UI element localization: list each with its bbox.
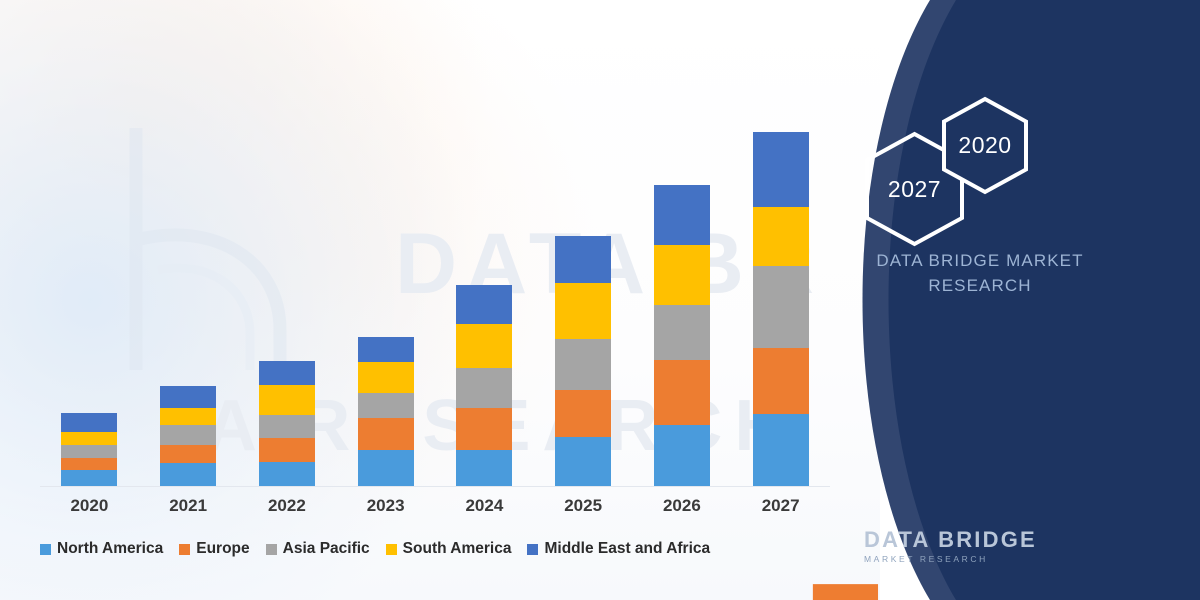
company-logo: DATA BRIDGE MARKET RESEARCH xyxy=(802,505,1132,600)
bar-segment xyxy=(160,386,216,408)
legend-label: Middle East and Africa xyxy=(544,540,710,558)
bar-2025 xyxy=(555,236,611,486)
stacked-bar-chart: 20202021202220232024202520262027 North A… xyxy=(0,0,880,600)
bar-segment xyxy=(654,360,710,425)
bar-segment xyxy=(259,361,315,385)
bar-segment xyxy=(555,283,611,339)
plot-area xyxy=(40,60,830,486)
company-logo-text: DATA BRIDGE xyxy=(864,527,1037,553)
x-tick-2020: 2020 xyxy=(41,496,137,516)
bar-segment xyxy=(61,432,117,445)
bar-segment xyxy=(61,445,117,458)
brand-title: DATA BRIDGE MARKET RESEARCH xyxy=(820,248,1140,298)
legend-item[interactable]: South America xyxy=(386,540,512,558)
legend-item[interactable]: Middle East and Africa xyxy=(527,540,710,558)
bar-segment xyxy=(654,185,710,245)
bar-segment xyxy=(61,458,117,470)
bar-segment xyxy=(160,408,216,425)
bar-segment xyxy=(555,390,611,437)
bar-segment xyxy=(456,450,512,486)
brand-title-line-1: DATA BRIDGE MARKET xyxy=(820,248,1140,273)
bar-segment xyxy=(358,418,414,450)
legend-label: South America xyxy=(403,540,512,558)
x-axis-tick-labels: 20202021202220232024202520262027 xyxy=(40,496,830,526)
bar-2023 xyxy=(358,337,414,486)
brand-title-line-2: RESEARCH xyxy=(820,273,1140,298)
legend-item[interactable]: Asia Pacific xyxy=(266,540,370,558)
legend-swatch-icon xyxy=(179,544,190,555)
bar-segment xyxy=(555,437,611,486)
brand-panel: 2027 2020 DATA BRIDGE MARKET RESEARCH DA… xyxy=(780,0,1200,600)
legend-label: North America xyxy=(57,540,163,558)
bar-segment xyxy=(358,450,414,486)
legend-item[interactable]: North America xyxy=(40,540,163,558)
x-tick-2021: 2021 xyxy=(140,496,236,516)
x-axis-line xyxy=(40,486,830,487)
legend-label: Europe xyxy=(196,540,249,558)
legend-swatch-icon xyxy=(40,544,51,555)
legend-swatch-icon xyxy=(386,544,397,555)
bar-segment xyxy=(555,236,611,283)
bar-segment xyxy=(160,425,216,445)
bar-segment xyxy=(160,463,216,486)
bar-segment xyxy=(456,408,512,450)
bar-2020 xyxy=(61,413,117,486)
legend-swatch-icon xyxy=(527,544,538,555)
legend-item[interactable]: Europe xyxy=(179,540,249,558)
company-logo-subtext: MARKET RESEARCH xyxy=(864,554,988,564)
hexagon-2020: 2020 xyxy=(940,95,1030,196)
bar-segment xyxy=(61,470,117,486)
bar-segment xyxy=(358,337,414,362)
infographic-canvas: DATA BR A RESEARCH 202020212022202320242… xyxy=(0,0,1200,600)
bar-segment xyxy=(160,445,216,463)
chart-legend: North AmericaEuropeAsia PacificSouth Ame… xyxy=(40,540,830,558)
x-tick-2025: 2025 xyxy=(535,496,631,516)
bar-segment xyxy=(61,413,117,432)
bar-segment xyxy=(555,339,611,390)
bar-segment xyxy=(654,245,710,305)
bar-segment xyxy=(654,425,710,486)
bar-segment xyxy=(358,362,414,393)
bar-segment xyxy=(654,305,710,360)
legend-swatch-icon xyxy=(266,544,277,555)
x-tick-2023: 2023 xyxy=(338,496,434,516)
bar-segment xyxy=(259,385,315,415)
bar-segment xyxy=(259,438,315,462)
x-tick-2026: 2026 xyxy=(634,496,730,516)
bar-segment xyxy=(456,324,512,368)
bar-segment xyxy=(358,393,414,418)
bar-2026 xyxy=(654,185,710,486)
x-tick-2024: 2024 xyxy=(436,496,532,516)
bar-segment xyxy=(456,285,512,324)
bar-segment xyxy=(259,415,315,438)
x-tick-2022: 2022 xyxy=(239,496,335,516)
bar-2024 xyxy=(456,285,512,486)
bar-2021 xyxy=(160,386,216,486)
hexagon-2020-label: 2020 xyxy=(940,95,1030,196)
legend-label: Asia Pacific xyxy=(283,540,370,558)
bar-2022 xyxy=(259,361,315,486)
bar-segment xyxy=(456,368,512,408)
bar-segment xyxy=(259,462,315,486)
